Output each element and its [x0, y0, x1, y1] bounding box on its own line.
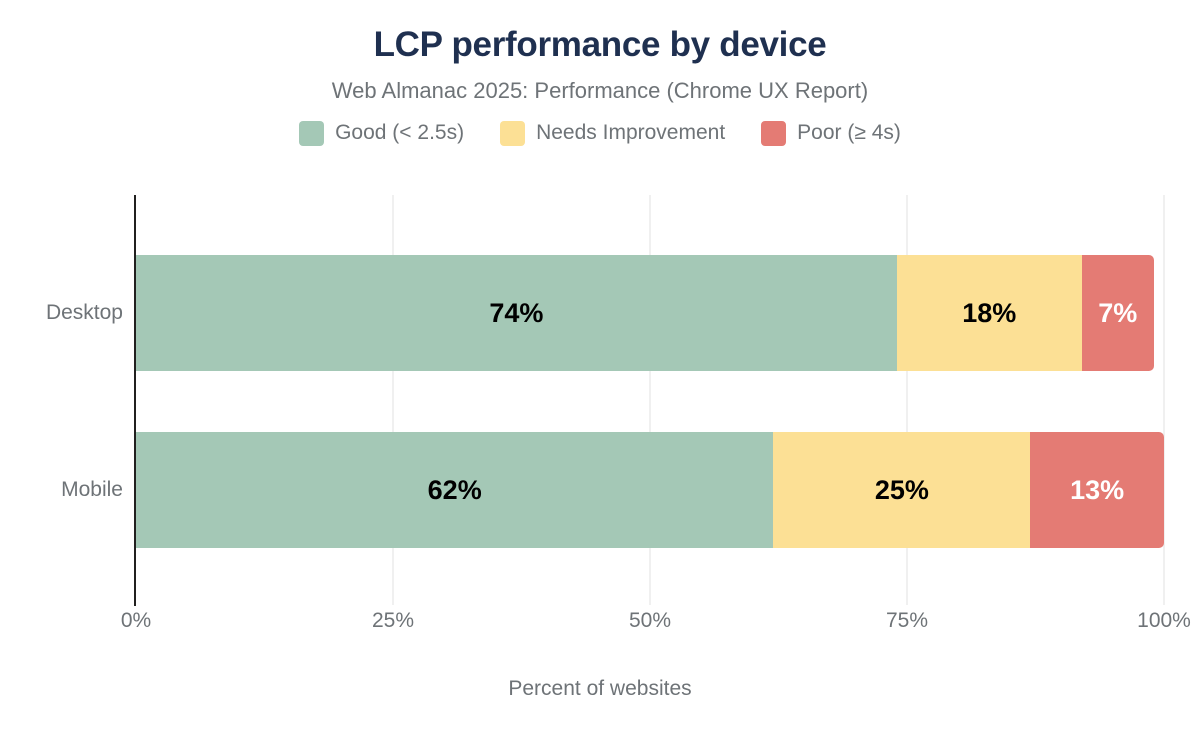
- bar-value-label: 74%: [489, 300, 543, 327]
- bar-segment[interactable]: 7%: [1082, 255, 1154, 371]
- bar-segment[interactable]: 74%: [136, 255, 897, 371]
- legend-item-0[interactable]: Good (< 2.5s): [299, 121, 464, 146]
- bar-value-label: 18%: [962, 300, 1016, 327]
- legend-swatch-icon: [761, 121, 786, 146]
- bar-segment[interactable]: 62%: [136, 432, 773, 548]
- x-tick-label-100%: 100%: [1137, 609, 1191, 633]
- legend-item-2[interactable]: Poor (≥ 4s): [761, 121, 901, 146]
- chart-header: LCP performance by device Web Almanac 20…: [0, 0, 1200, 104]
- plot-wrapper: 74%18%7%62%25%13% DesktopMobile 0%25%50%…: [0, 186, 1200, 742]
- bar-value-label: 7%: [1098, 300, 1137, 327]
- legend-label: Poor (≥ 4s): [797, 121, 901, 145]
- y-tick-label-mobile: Mobile: [61, 478, 123, 502]
- x-tick-label-75%: 75%: [886, 609, 928, 633]
- chart-title: LCP performance by device: [0, 26, 1200, 65]
- bar-value-label: 13%: [1070, 477, 1124, 504]
- bar-segment[interactable]: 25%: [773, 432, 1030, 548]
- legend-label: Good (< 2.5s): [335, 121, 464, 145]
- x-tick-label-50%: 50%: [629, 609, 671, 633]
- x-tick-label-25%: 25%: [372, 609, 414, 633]
- legend-item-1[interactable]: Needs Improvement: [500, 121, 725, 146]
- chart-legend: Good (< 2.5s)Needs ImprovementPoor (≥ 4s…: [0, 121, 1200, 146]
- bar-value-label: 62%: [428, 477, 482, 504]
- bar-value-label: 25%: [875, 477, 929, 504]
- y-tick-label-desktop: Desktop: [46, 301, 123, 325]
- legend-swatch-icon: [299, 121, 324, 146]
- x-axis-title: Percent of websites: [0, 677, 1200, 701]
- bar-row-mobile[interactable]: 62%25%13%: [136, 432, 1164, 548]
- bar-segment[interactable]: 18%: [897, 255, 1082, 371]
- plot-area: 74%18%7%62%25%13%: [136, 195, 1164, 605]
- legend-swatch-icon: [500, 121, 525, 146]
- x-tick-label-0%: 0%: [121, 609, 151, 633]
- bar-segment[interactable]: 13%: [1030, 432, 1164, 548]
- bar-row-desktop[interactable]: 74%18%7%: [136, 255, 1164, 371]
- chart-subtitle: Web Almanac 2025: Performance (Chrome UX…: [0, 78, 1200, 104]
- legend-label: Needs Improvement: [536, 121, 725, 145]
